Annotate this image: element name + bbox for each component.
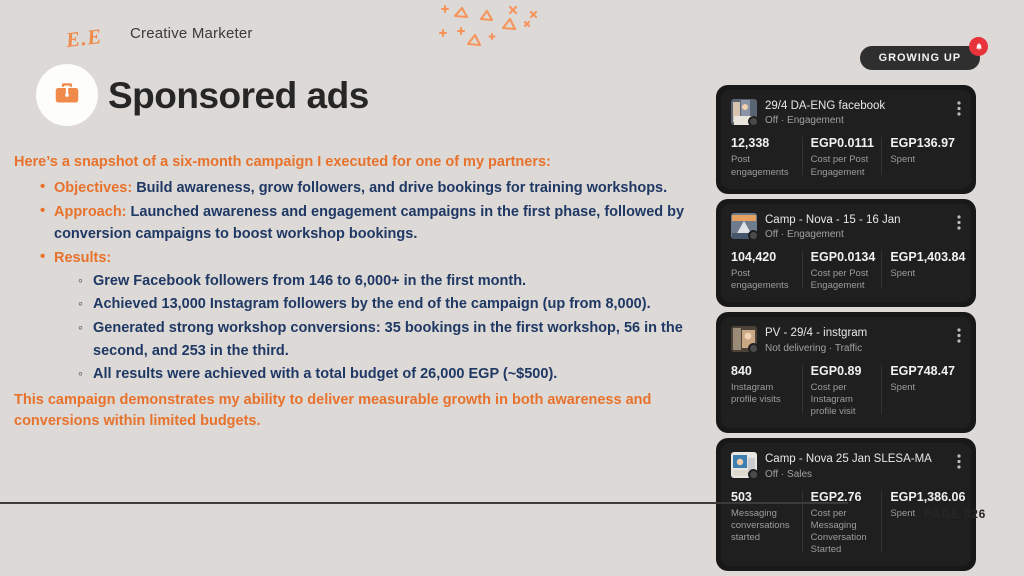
list-item: Grew Facebook followers from 146 to 6,00…	[78, 270, 714, 293]
stat-value: EGP136.97	[890, 136, 955, 151]
bullet-label: Approach:	[54, 204, 127, 220]
kebab-menu-icon[interactable]	[957, 213, 961, 235]
stat-label: Post engagements	[731, 154, 796, 178]
ad-card[interactable]: Camp - Nova - 15 - 16 Jan Off · Engageme…	[716, 199, 976, 308]
stat-value: 12,338	[731, 136, 796, 151]
kebab-menu-icon[interactable]	[957, 452, 961, 474]
bullet-label: Results:	[54, 250, 111, 266]
status-dot	[748, 343, 757, 352]
page-title: Sponsored ads	[108, 77, 369, 114]
stat-label: Cost per Messaging Conversation Started	[811, 508, 876, 557]
stat-cell: EGP136.97 Spent	[881, 136, 961, 178]
stat-label: Post engagements	[731, 268, 796, 292]
list-item: Generated strong workshop conversions: 3…	[78, 317, 714, 363]
results-sublist: Grew Facebook followers from 146 to 6,00…	[78, 270, 714, 386]
stat-value: EGP1,403.84	[890, 250, 955, 265]
stat-cell: 104,420 Post engagements	[731, 250, 802, 292]
list-item: Achieved 13,000 Instagram followers by t…	[78, 293, 714, 316]
closing-text: This campaign demonstrates my ability to…	[14, 390, 714, 432]
role-subtitle: Creative Marketer	[130, 25, 253, 42]
stat-label: Spent	[890, 382, 955, 394]
campaign-status: Not delivering · Traffic	[765, 342, 949, 356]
stat-label: Cost per Instagram profile visit	[811, 382, 876, 418]
bullet-label: Objectives:	[54, 180, 132, 196]
stat-cell: EGP0.0111 Cost per Post Engagement	[802, 136, 882, 178]
campaign-name: 29/4 DA-ENG facebook	[765, 99, 949, 113]
status-dot	[748, 116, 757, 125]
kebab-menu-icon[interactable]	[957, 99, 961, 121]
list-item: Results: Grew Facebook followers from 14…	[40, 247, 714, 386]
bullet-text: Launched awareness and engagement campai…	[54, 204, 684, 242]
status-dot	[748, 469, 757, 478]
logo-circle	[36, 64, 98, 126]
campaign-status: Off · Engagement	[765, 114, 949, 128]
campaign-name: Camp - Nova 25 Jan SLESA-MA	[765, 452, 949, 466]
campaign-status: Off · Engagement	[765, 228, 949, 242]
lede-text: Here’s a snapshot of a six-month campaig…	[14, 152, 714, 173]
stat-cell: EGP1,386.06 Spent	[881, 490, 961, 557]
stat-cell: 840 Instagram profile visits	[731, 364, 802, 418]
growing-up-label: GROWING UP	[860, 46, 980, 70]
stat-label: Instagram profile visits	[731, 382, 796, 406]
list-item: All results were achieved with a total b…	[78, 363, 714, 386]
campaign-name: PV - 29/4 - instgram	[765, 326, 949, 340]
stat-value: EGP1,386.06	[890, 490, 955, 505]
objectives-list: Objectives: Build awareness, grow follow…	[40, 177, 714, 386]
stat-cell: EGP1,403.84 Spent	[881, 250, 961, 292]
page-title-row: Sponsored ads	[36, 64, 369, 126]
stat-cell: 12,338 Post engagements	[731, 136, 802, 178]
ad-card[interactable]: PV - 29/4 - instgram Not delivering · Tr…	[716, 312, 976, 433]
stat-label: Spent	[890, 154, 955, 166]
campaign-name: Camp - Nova - 15 - 16 Jan	[765, 213, 949, 227]
bell-icon[interactable]	[969, 37, 988, 56]
stat-value: 104,420	[731, 250, 796, 265]
bullet-text: Build awareness, grow followers, and dri…	[132, 180, 667, 196]
kebab-menu-icon[interactable]	[957, 326, 961, 348]
list-item: Approach: Launched awareness and engagem…	[40, 201, 714, 245]
campaign-thumbnail	[731, 326, 757, 352]
list-item: Objectives: Build awareness, grow follow…	[40, 177, 714, 199]
triangles-sparkle-decoration	[437, 2, 537, 52]
stat-cell: EGP0.89 Cost per Instagram profile visit	[802, 364, 882, 418]
briefcase-icon	[52, 78, 82, 113]
stat-cell: EGP748.47 Spent	[881, 364, 961, 418]
stat-label: Spent	[890, 268, 955, 280]
stat-cell: EGP0.0134 Cost per Post Engagement	[802, 250, 882, 292]
campaign-thumbnail	[731, 99, 757, 125]
stat-label: Cost per Post Engagement	[811, 268, 876, 292]
stat-value: EGP0.0111	[811, 136, 876, 151]
footer-divider	[0, 502, 848, 504]
stat-value: EGP0.89	[811, 364, 876, 379]
campaign-status: Off · Sales	[765, 468, 949, 482]
campaign-thumbnail	[731, 213, 757, 239]
status-dot	[748, 230, 757, 239]
stat-value: 840	[731, 364, 796, 379]
monogram: E.E	[65, 24, 104, 53]
stat-cell: 503 Messaging conversations started	[731, 490, 802, 557]
stat-label: Messaging conversations started	[731, 508, 796, 544]
campaign-thumbnail	[731, 452, 757, 478]
ad-card[interactable]: 29/4 DA-ENG facebook Off · Engagement 12…	[716, 85, 976, 194]
body-copy: Here’s a snapshot of a six-month campaig…	[14, 152, 714, 433]
page-number: PAGE 026	[924, 507, 986, 521]
stat-value: EGP748.47	[890, 364, 955, 379]
stat-value: EGP0.0134	[811, 250, 876, 265]
ad-card[interactable]: Camp - Nova 25 Jan SLESA-MA Off · Sales …	[716, 438, 976, 571]
stat-label: Cost per Post Engagement	[811, 154, 876, 178]
growing-up-badge[interactable]: GROWING UP	[860, 46, 980, 70]
stat-cell: EGP2.76 Cost per Messaging Conversation …	[802, 490, 882, 557]
